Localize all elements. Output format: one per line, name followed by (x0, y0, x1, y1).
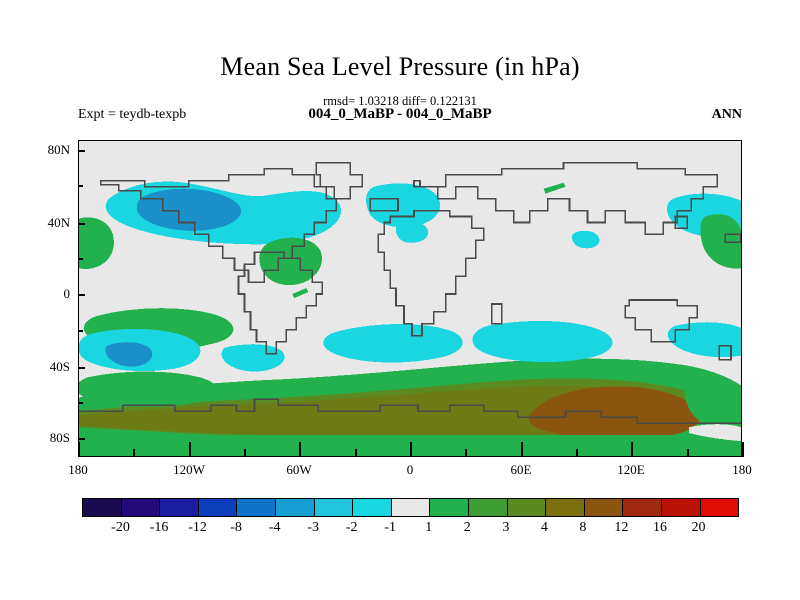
colorbar-cell-4 (237, 499, 276, 516)
colorbar-label-20: 20 (668, 520, 728, 536)
ytick-mark-minor-4 (78, 402, 83, 404)
colorbar-cell-0 (83, 499, 122, 516)
colorbar (82, 498, 739, 517)
xtick-mark-120w (189, 442, 191, 458)
xtick-mark-minor-2 (244, 449, 246, 457)
ytick-label-80s: 80S (0, 430, 70, 446)
colorbar-cell-2 (160, 499, 199, 516)
xtick-mark-minor-1 (133, 449, 135, 457)
ytick-mark-40n (78, 223, 85, 225)
climate-map-figure: Mean Sea Level Pressure (in hPa) rmsd= 1… (0, 0, 800, 600)
ytick-label-0: 0 (0, 286, 70, 302)
map-svg (79, 141, 741, 456)
contour-fill-sw-green-lower (79, 372, 217, 407)
colorbar-cell-9 (430, 499, 469, 516)
ytick-mark-0 (78, 294, 85, 296)
experiment-label: Expt = teydb-texpb (78, 107, 186, 123)
xtick-mark-60e (521, 442, 523, 458)
ytick-mark-40s (78, 367, 85, 369)
ytick-mark-minor-2 (78, 258, 83, 260)
colorbar-cell-14 (623, 499, 662, 516)
contour-fill-indian-cyan (472, 321, 612, 362)
xtick-mark-minor-4 (465, 449, 467, 457)
xtick-label-120w: 120W (154, 462, 224, 478)
colorbar-cell-11 (508, 499, 547, 516)
xtick-mark-120e (631, 442, 633, 458)
colorbar-cell-5 (276, 499, 315, 516)
colorbar-cell-6 (315, 499, 354, 516)
xtick-mark-minor-6 (687, 449, 689, 457)
map-plot-area (78, 140, 742, 457)
xtick-mark-0 (410, 442, 412, 458)
page-title: Mean Sea Level Pressure (in hPa) (0, 52, 800, 82)
colorbar-cell-13 (585, 499, 624, 516)
xtick-mark-60w (299, 442, 301, 458)
ytick-mark-minor-1 (78, 185, 83, 187)
xtick-mark-minor-5 (576, 449, 578, 457)
colorbar-cell-1 (122, 499, 161, 516)
ytick-label-40s: 40S (0, 359, 70, 375)
xtick-label-180e: 180 (707, 462, 777, 478)
xtick-label-180w: 180 (43, 462, 113, 478)
xtick-label-60w: 60W (264, 462, 334, 478)
colorbar-cell-10 (469, 499, 508, 516)
contour-fill-natlantic-cyan (366, 183, 440, 227)
colorbar-cell-15 (662, 499, 701, 516)
ytick-label-40n: 40N (0, 215, 70, 231)
xtick-label-60e: 60E (486, 462, 556, 478)
ytick-mark-80s (78, 438, 85, 440)
colorbar-labels: -20-16-12-8-4-3-2-112348121620 (82, 520, 739, 542)
colorbar-cell-16 (701, 499, 739, 516)
contour-fill-samerica-sliver (201, 314, 208, 329)
colorbar-cell-3 (199, 499, 238, 516)
ytick-mark-minor-3 (78, 330, 83, 332)
colorbar-cell-12 (546, 499, 585, 516)
season-label: ANN (712, 107, 742, 123)
xtick-label-0: 0 (375, 462, 445, 478)
xtick-mark-180e (742, 442, 744, 458)
xtick-mark-minor-3 (355, 449, 357, 457)
colorbar-cell-8 (392, 499, 431, 516)
ytick-label-80n: 80N (0, 142, 70, 158)
colorbar-cell-7 (353, 499, 392, 516)
xtick-mark-180w (78, 442, 80, 458)
ytick-mark-80n (78, 150, 85, 152)
xtick-label-120e: 120E (596, 462, 666, 478)
